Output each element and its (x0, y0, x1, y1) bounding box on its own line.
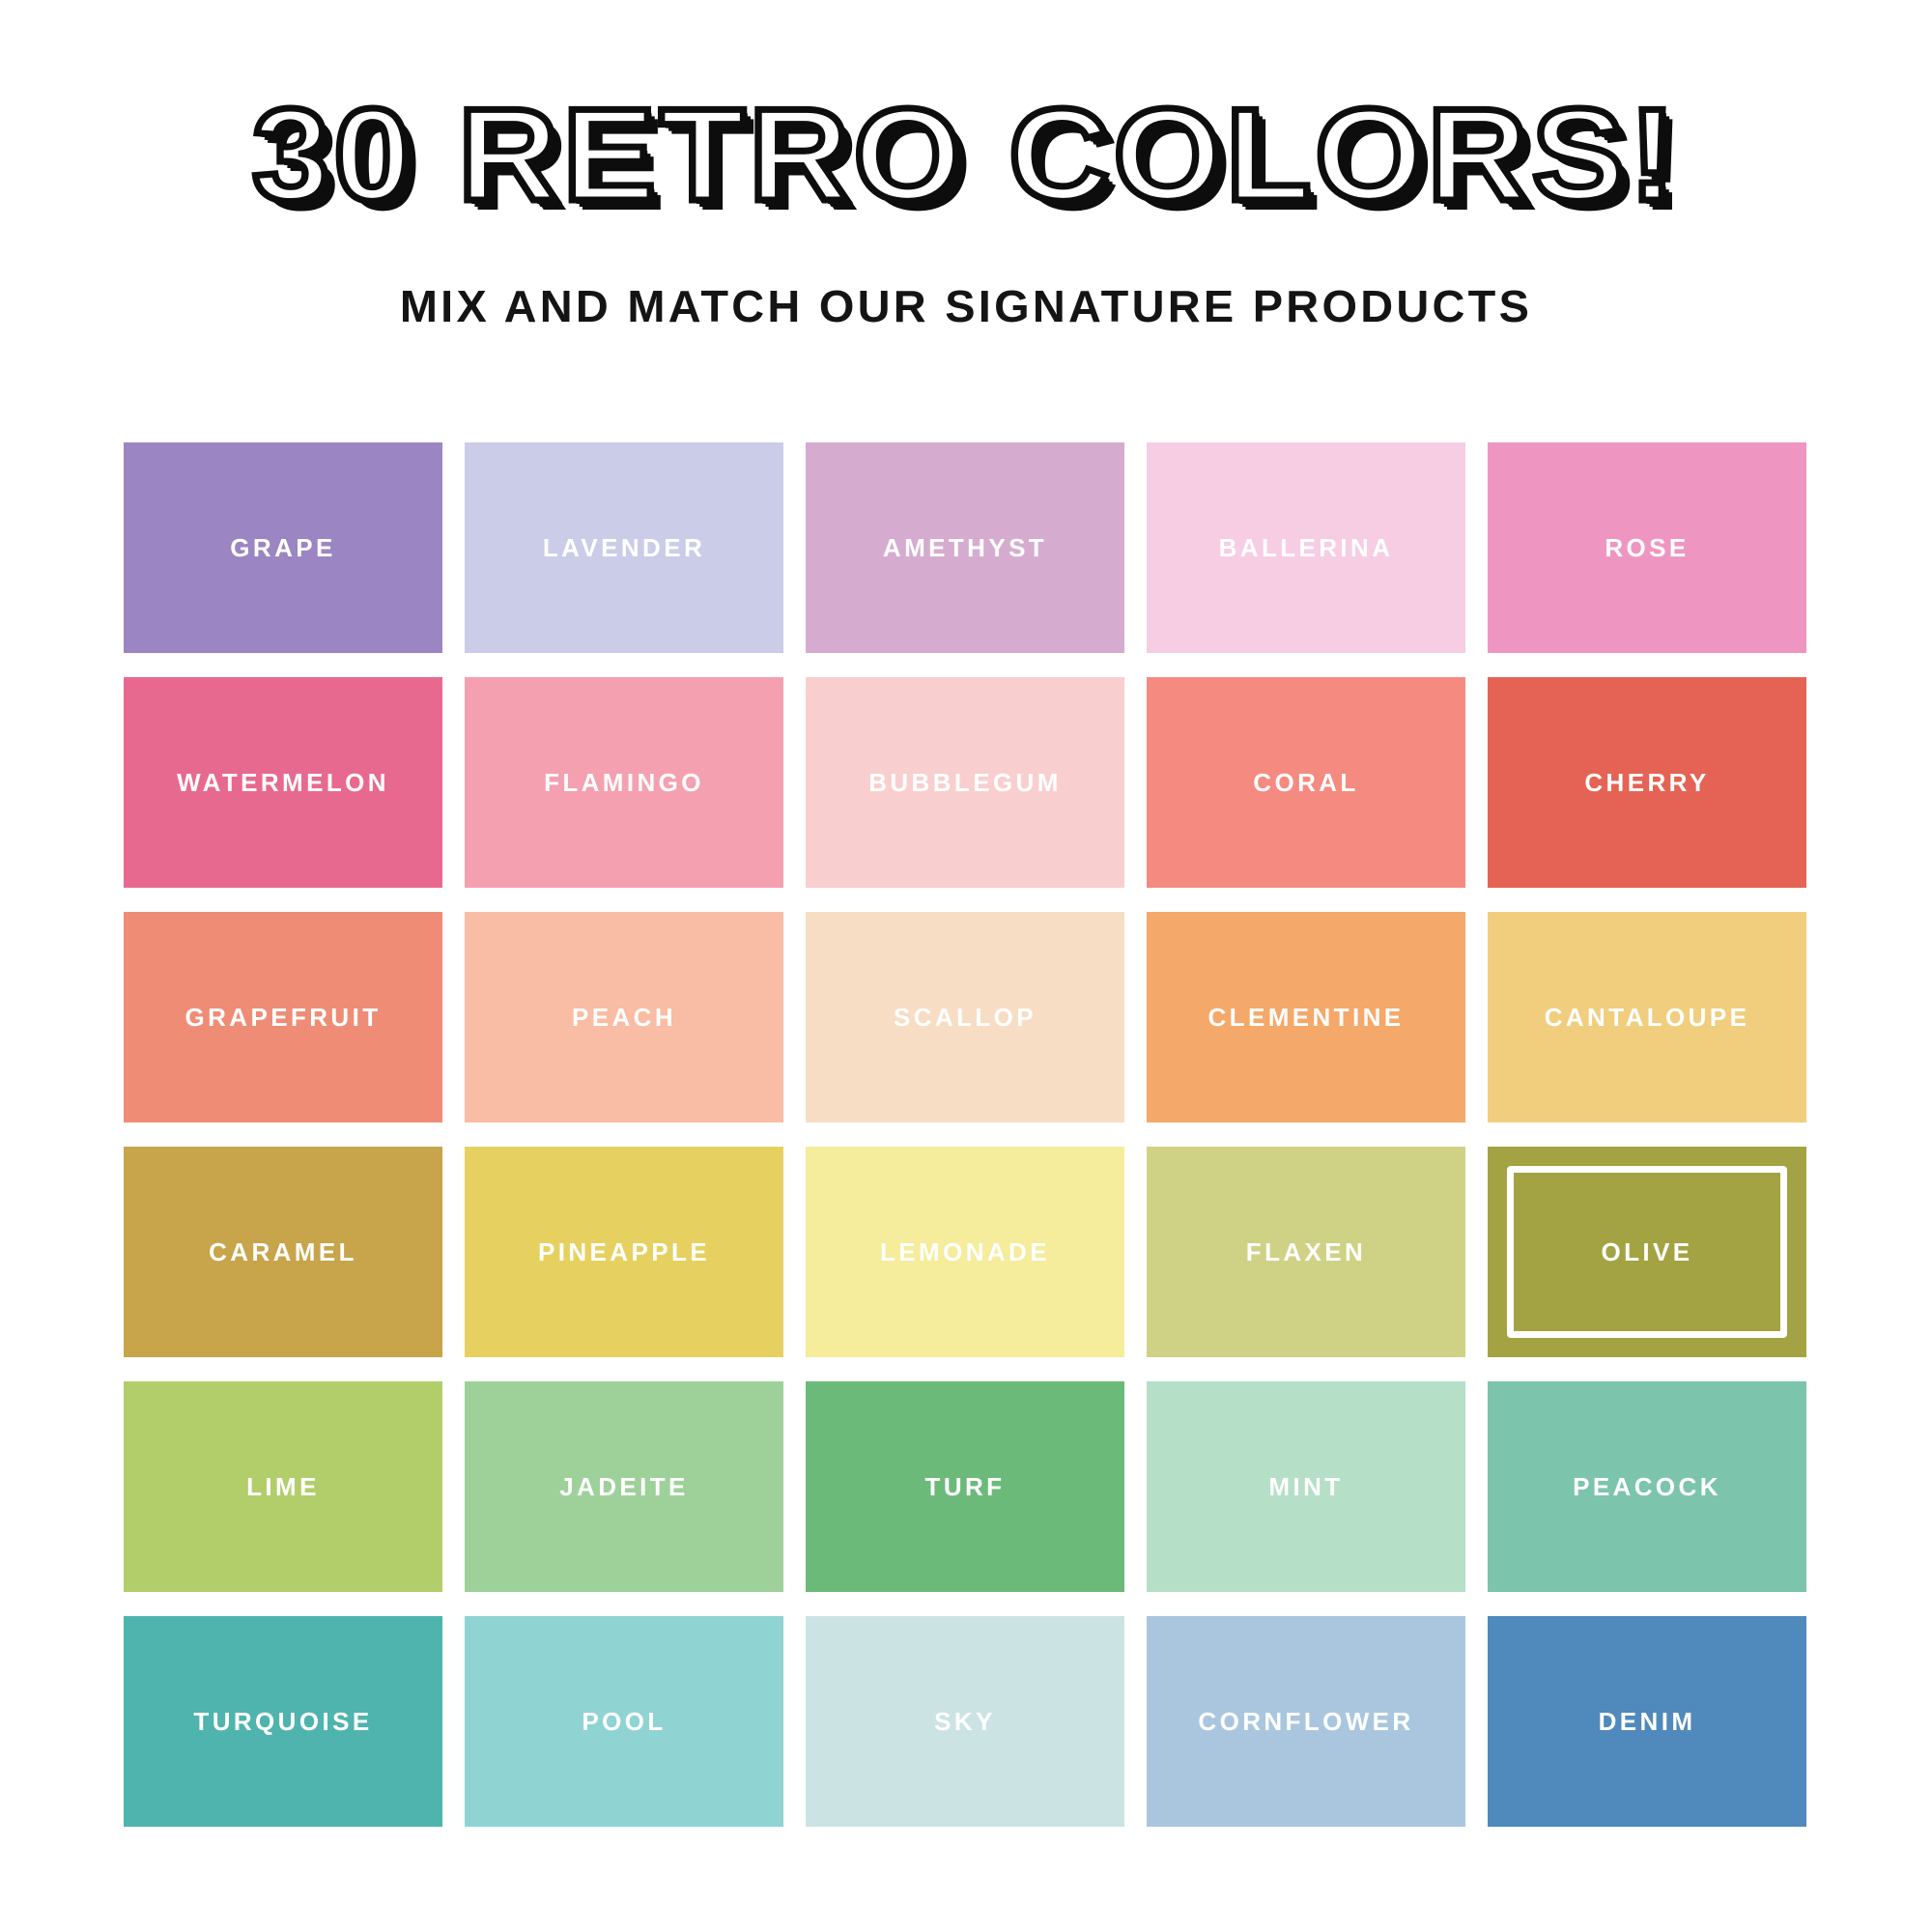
color-swatch[interactable]: LIME (124, 1381, 442, 1592)
color-swatch[interactable]: MINT (1147, 1381, 1465, 1592)
color-swatch[interactable]: GRAPE (124, 442, 442, 653)
color-swatch-selected[interactable]: OLIVE (1488, 1147, 1806, 1357)
color-swatch-label: POOL (582, 1707, 666, 1737)
color-swatch[interactable]: PEACOCK (1488, 1381, 1806, 1592)
page-subtitle: MIX AND MATCH OUR SIGNATURE PRODUCTS (0, 220, 1932, 332)
color-swatch[interactable]: LEMONADE (806, 1147, 1124, 1357)
color-swatch[interactable]: CANTALOUPE (1488, 912, 1806, 1122)
color-swatch-label: TURQUOISE (193, 1707, 372, 1737)
color-swatch-label: PEACOCK (1573, 1472, 1721, 1502)
color-swatch-label: FLAXEN (1246, 1237, 1366, 1267)
color-swatch-label: AMETHYST (883, 533, 1047, 563)
color-swatch-label: CORAL (1253, 768, 1358, 798)
color-swatch[interactable]: TURF (806, 1381, 1124, 1592)
page-title: 30 RETRO COLORS! (0, 89, 1932, 220)
color-swatch[interactable]: FLAMINGO (465, 677, 783, 888)
color-swatch-grid: GRAPELAVENDERAMETHYSTBALLERINAROSEWATERM… (124, 442, 1806, 1827)
color-swatch-label: GRAPEFRUIT (185, 1003, 382, 1033)
color-swatch-label: ROSE (1605, 533, 1689, 563)
color-swatch-label: CARAMEL (209, 1237, 357, 1267)
color-swatch-label: LEMONADE (880, 1237, 1050, 1267)
color-swatch[interactable]: CLEMENTINE (1147, 912, 1465, 1122)
color-swatch[interactable]: WATERMELON (124, 677, 442, 888)
color-swatch-label: CORNFLOWER (1198, 1707, 1413, 1737)
color-swatch-label: SCALLOP (894, 1003, 1037, 1033)
color-swatch-label: PEACH (572, 1003, 676, 1033)
color-swatch[interactable]: BUBBLEGUM (806, 677, 1124, 888)
color-swatch[interactable]: ROSE (1488, 442, 1806, 653)
poster-header: 30 RETRO COLORS! MIX AND MATCH OUR SIGNA… (0, 0, 1932, 332)
color-swatch[interactable]: PEACH (465, 912, 783, 1122)
color-swatch-label: SKY (934, 1707, 996, 1737)
color-swatch[interactable]: FLAXEN (1147, 1147, 1465, 1357)
color-swatch[interactable]: TURQUOISE (124, 1616, 442, 1827)
color-swatch[interactable]: CARAMEL (124, 1147, 442, 1357)
color-swatch-label: MINT (1268, 1472, 1343, 1502)
color-swatch-label: CANTALOUPE (1545, 1003, 1750, 1033)
color-swatch[interactable]: CORNFLOWER (1147, 1616, 1465, 1827)
color-swatch[interactable]: CHERRY (1488, 677, 1806, 888)
color-swatch-label: PINEAPPLE (538, 1237, 710, 1267)
color-swatch-label: BUBBLEGUM (868, 768, 1062, 798)
color-swatch-label: LIME (246, 1472, 320, 1502)
color-swatch[interactable]: PINEAPPLE (465, 1147, 783, 1357)
color-palette-poster: 30 RETRO COLORS! MIX AND MATCH OUR SIGNA… (0, 0, 1932, 1932)
color-swatch[interactable]: AMETHYST (806, 442, 1124, 653)
color-swatch[interactable]: DENIM (1488, 1616, 1806, 1827)
color-swatch[interactable]: GRAPEFRUIT (124, 912, 442, 1122)
color-swatch[interactable]: SCALLOP (806, 912, 1124, 1122)
color-swatch-label: BALLERINA (1219, 533, 1394, 563)
color-swatch[interactable]: SKY (806, 1616, 1124, 1827)
color-swatch[interactable]: POOL (465, 1616, 783, 1827)
color-swatch-label: LAVENDER (543, 533, 705, 563)
color-swatch-label: DENIM (1599, 1707, 1696, 1737)
color-swatch[interactable]: JADEITE (465, 1381, 783, 1592)
color-swatch[interactable]: CORAL (1147, 677, 1465, 888)
color-swatch-label: CHERRY (1584, 768, 1709, 798)
color-swatch-label: WATERMELON (177, 768, 389, 798)
color-swatch-label: TURF (925, 1472, 1006, 1502)
color-swatch[interactable]: LAVENDER (465, 442, 783, 653)
color-swatch-label: GRAPE (230, 533, 335, 563)
color-swatch-label: FLAMINGO (544, 768, 704, 798)
color-swatch-label: JADEITE (559, 1472, 689, 1502)
color-swatch-label: CLEMENTINE (1208, 1003, 1405, 1033)
color-swatch-label: OLIVE (1601, 1237, 1692, 1267)
color-swatch[interactable]: BALLERINA (1147, 442, 1465, 653)
